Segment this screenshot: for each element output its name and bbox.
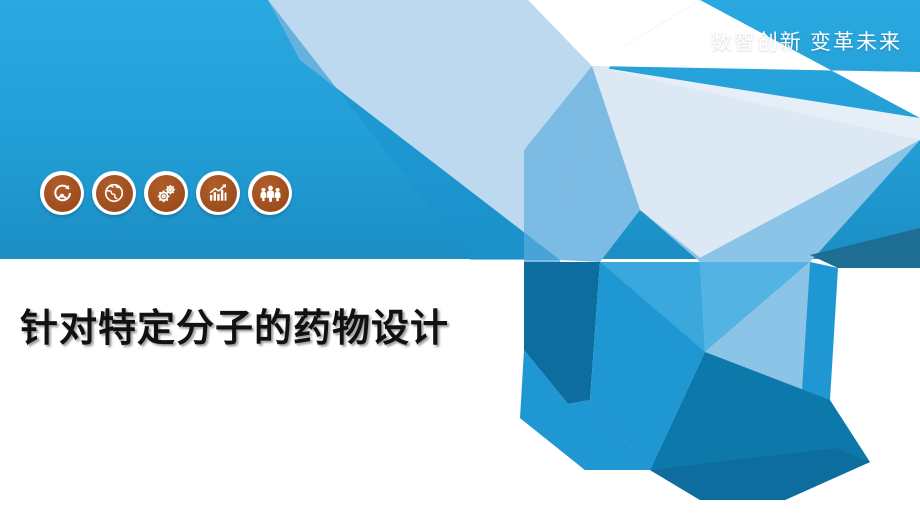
icon-badge-refresh[interactable] xyxy=(40,171,84,215)
presentation-slide: 数智创新 变革未来 xyxy=(0,0,920,518)
gears-icon xyxy=(148,175,185,212)
header-tagline: 数智创新 变革未来 xyxy=(711,26,902,56)
icon-row xyxy=(40,171,292,215)
page-title: 针对特定分子的药物设计 xyxy=(20,297,449,352)
people-group-icon xyxy=(252,175,289,212)
bar-chart-icon xyxy=(200,175,237,212)
icon-badge-gears[interactable] xyxy=(144,171,188,215)
refresh-arrow-icon xyxy=(44,175,81,212)
globe-icon xyxy=(96,175,133,212)
low-poly-decoration xyxy=(0,0,920,518)
icon-badge-people[interactable] xyxy=(248,171,292,215)
icon-badge-bar-chart[interactable] xyxy=(196,171,240,215)
icon-badge-globe[interactable] xyxy=(92,171,136,215)
